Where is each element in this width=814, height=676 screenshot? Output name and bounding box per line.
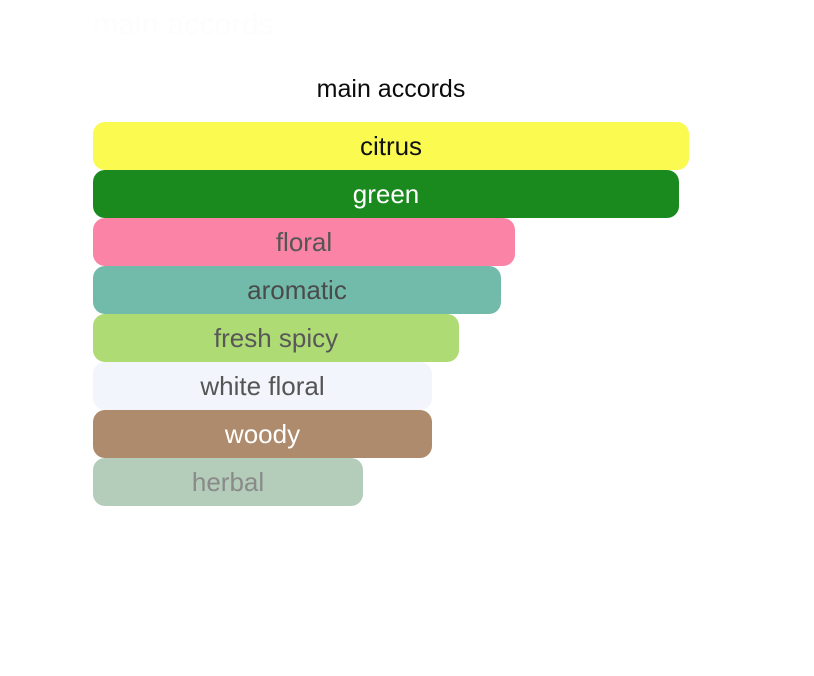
bar-floral[interactable]: floral [93,218,515,266]
bar-herbal[interactable]: herbal [93,458,363,506]
bar-aromatic[interactable]: aromatic [93,266,501,314]
bar-label: citrus [360,132,422,160]
bar-row: citrus [93,122,793,170]
chart-title: main accords [93,74,689,104]
bar-green[interactable]: green [93,170,679,218]
bar-label: herbal [192,468,264,496]
bar-label: white floral [200,372,324,400]
main-accords-bar-chart: main accords citrus green floral aromati… [0,0,814,676]
bar-row: herbal [93,458,793,506]
bar-row: aromatic [93,266,793,314]
bar-row: woody [93,410,793,458]
bar-label: fresh spicy [214,324,338,352]
bar-row: fresh spicy [93,314,793,362]
bar-row: floral [93,218,793,266]
bar-label: floral [276,228,332,256]
bar-woody[interactable]: woody [93,410,432,458]
bar-white-floral[interactable]: white floral [93,362,432,410]
bar-row: white floral [93,362,793,410]
bar-label: aromatic [247,276,347,304]
bar-label: woody [225,420,300,448]
bar-row: green [93,170,793,218]
bar-label: green [353,180,420,208]
bar-citrus[interactable]: citrus [93,122,689,170]
bar-fresh-spicy[interactable]: fresh spicy [93,314,459,362]
bar-list: citrus green floral aromatic fresh spicy [93,122,793,506]
